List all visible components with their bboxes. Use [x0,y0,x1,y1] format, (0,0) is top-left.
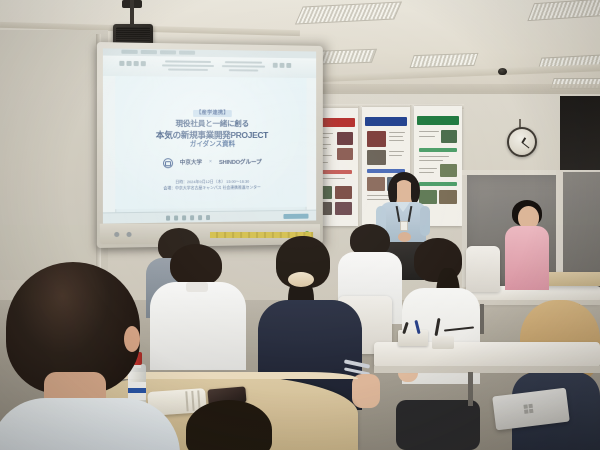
foreground-student-shirt [0,398,180,450]
zoom-slider[interactable] [283,214,308,219]
slide-title-line-1: 現役社員と一緒に創る [115,120,306,129]
clock-hand-minute [522,142,530,148]
case-pleat [185,391,188,411]
ribbon-icon[interactable] [119,61,124,66]
slide-logo-row: 中京大学 × SHINDOグループ [115,158,306,169]
poster-text-line [419,160,443,161]
laptop-logo-icon [523,404,533,414]
foreground-student-ear [124,326,140,352]
poster-subheader [419,148,457,152]
poster-subheader [419,182,457,186]
left-wall [0,30,108,280]
ribbon-icon[interactable] [280,63,285,68]
ribbon-row[interactable] [225,61,262,63]
poster-header [417,116,458,125]
ribbon-group[interactable] [222,61,265,71]
poster-photo [439,190,457,204]
status-icon[interactable] [198,215,202,220]
presenter-arm [420,206,430,236]
student-pink-shirt [505,226,549,290]
poster-text-line [419,172,434,173]
ppt-tab-strip[interactable] [121,50,195,55]
poster-text-line [389,136,403,137]
whiteboard-screen[interactable]: 【産学連携】 現役社員と一緒に創る 本気の新規事業開発PROJECT ガイダンス… [103,48,316,223]
slide-meta-venue: 会場：中京大学名古屋キャンパス 社会連携推進センター [115,184,306,192]
ceiling-sensor-icon [498,68,507,75]
logo-separator: × [209,160,212,166]
status-icon[interactable] [166,216,170,221]
ppt-tab[interactable] [121,50,137,54]
table-leg [480,304,484,334]
university-name: 中京大学 [180,160,202,167]
ribbon-group[interactable] [119,61,145,66]
ppt-tab[interactable] [160,50,176,54]
classroom-photo: 【産学連携】 現役社員と一緒に創る 本気の新規事業開発PROJECT ガイダンス… [0,0,600,450]
doorway [560,96,600,174]
room-partition [563,172,600,282]
ribbon-icon[interactable] [134,61,139,66]
ribbon-icon[interactable] [141,61,146,66]
status-icon[interactable] [190,215,194,220]
company-name: SHINDOグループ [219,160,262,167]
presenter-hair-side [388,180,397,204]
ribbon-row[interactable] [168,68,208,70]
poster-photo [335,186,352,199]
ppt-tab[interactable] [141,50,157,54]
student-white-polo-collar [186,282,208,292]
poster-text-line [419,136,435,137]
ribbon-row[interactable] [222,65,265,68]
ribbon-icon[interactable] [273,63,278,68]
poster-text-line [389,140,404,141]
bottle-label [128,382,146,400]
status-icon[interactable] [174,215,178,220]
student-navy-arm [352,374,380,408]
student-ponytail-lap [396,400,480,450]
poster-photo [367,131,386,147]
poster-photo [337,132,353,145]
speaker-rod [130,0,134,26]
poster-text-line [419,156,449,157]
status-icon[interactable] [206,215,210,220]
poster-text-line [389,132,405,133]
poster-photo [367,150,386,165]
poster-photo [441,130,457,143]
ceiling-light-panel [409,53,478,68]
slide-kicker: 【産学連携】 [193,109,232,116]
poster-photo [337,148,353,160]
student-white-polo-top [150,282,246,370]
poster-photo [335,202,352,215]
ribbon-row[interactable] [229,69,258,71]
case-pleat [191,391,194,411]
wall-clock-icon [507,127,537,157]
poster-photo [419,190,437,204]
scrunchie [288,272,314,287]
presenter-hand [398,232,411,242]
ppt-tab[interactable] [179,51,195,55]
poster-photo [367,177,385,191]
table-leg [468,372,473,406]
slide-title-line-2: 本気の新規事業開発PROJECT [115,130,306,140]
whiteboard-button[interactable] [114,232,119,237]
ribbon-group[interactable] [273,63,291,68]
slide-content: 【産学連携】 現役社員と一緒に創る 本気の新規事業開発PROJECT ガイダンス… [115,100,306,192]
ppt-side-pane[interactable] [306,78,317,221]
ppt-slide-canvas[interactable]: 【産学連携】 現役社員と一緒に創る 本気の新規事業開発PROJECT ガイダンス… [115,76,306,209]
ribbon-group[interactable] [162,60,214,71]
desk-power-outlet[interactable] [432,336,454,349]
student-white-polo-hair [170,244,222,286]
slide-meta: 日時：2024年9月12日（木） 15:00〜16:30 会場：中京大学名古屋キ… [115,179,306,193]
poster-text-line [389,151,404,152]
poster-text-line [389,155,402,156]
university-logo-icon [163,158,173,168]
poster-text-line [419,131,439,132]
chair [466,246,500,292]
ribbon-icon[interactable] [286,63,291,68]
ribbon-row[interactable] [162,64,214,67]
poster-header [365,117,406,126]
status-icon[interactable] [182,215,186,220]
table-edge [374,366,600,373]
id-badge [400,221,408,231]
whiteboard-button[interactable] [126,232,131,237]
slide-subtitle: ガイダンス資料 [115,141,306,149]
poster-text-line [419,168,437,169]
ribbon-row[interactable] [165,60,211,63]
poster-photo [440,164,457,177]
ribbon-icon[interactable] [126,61,131,66]
